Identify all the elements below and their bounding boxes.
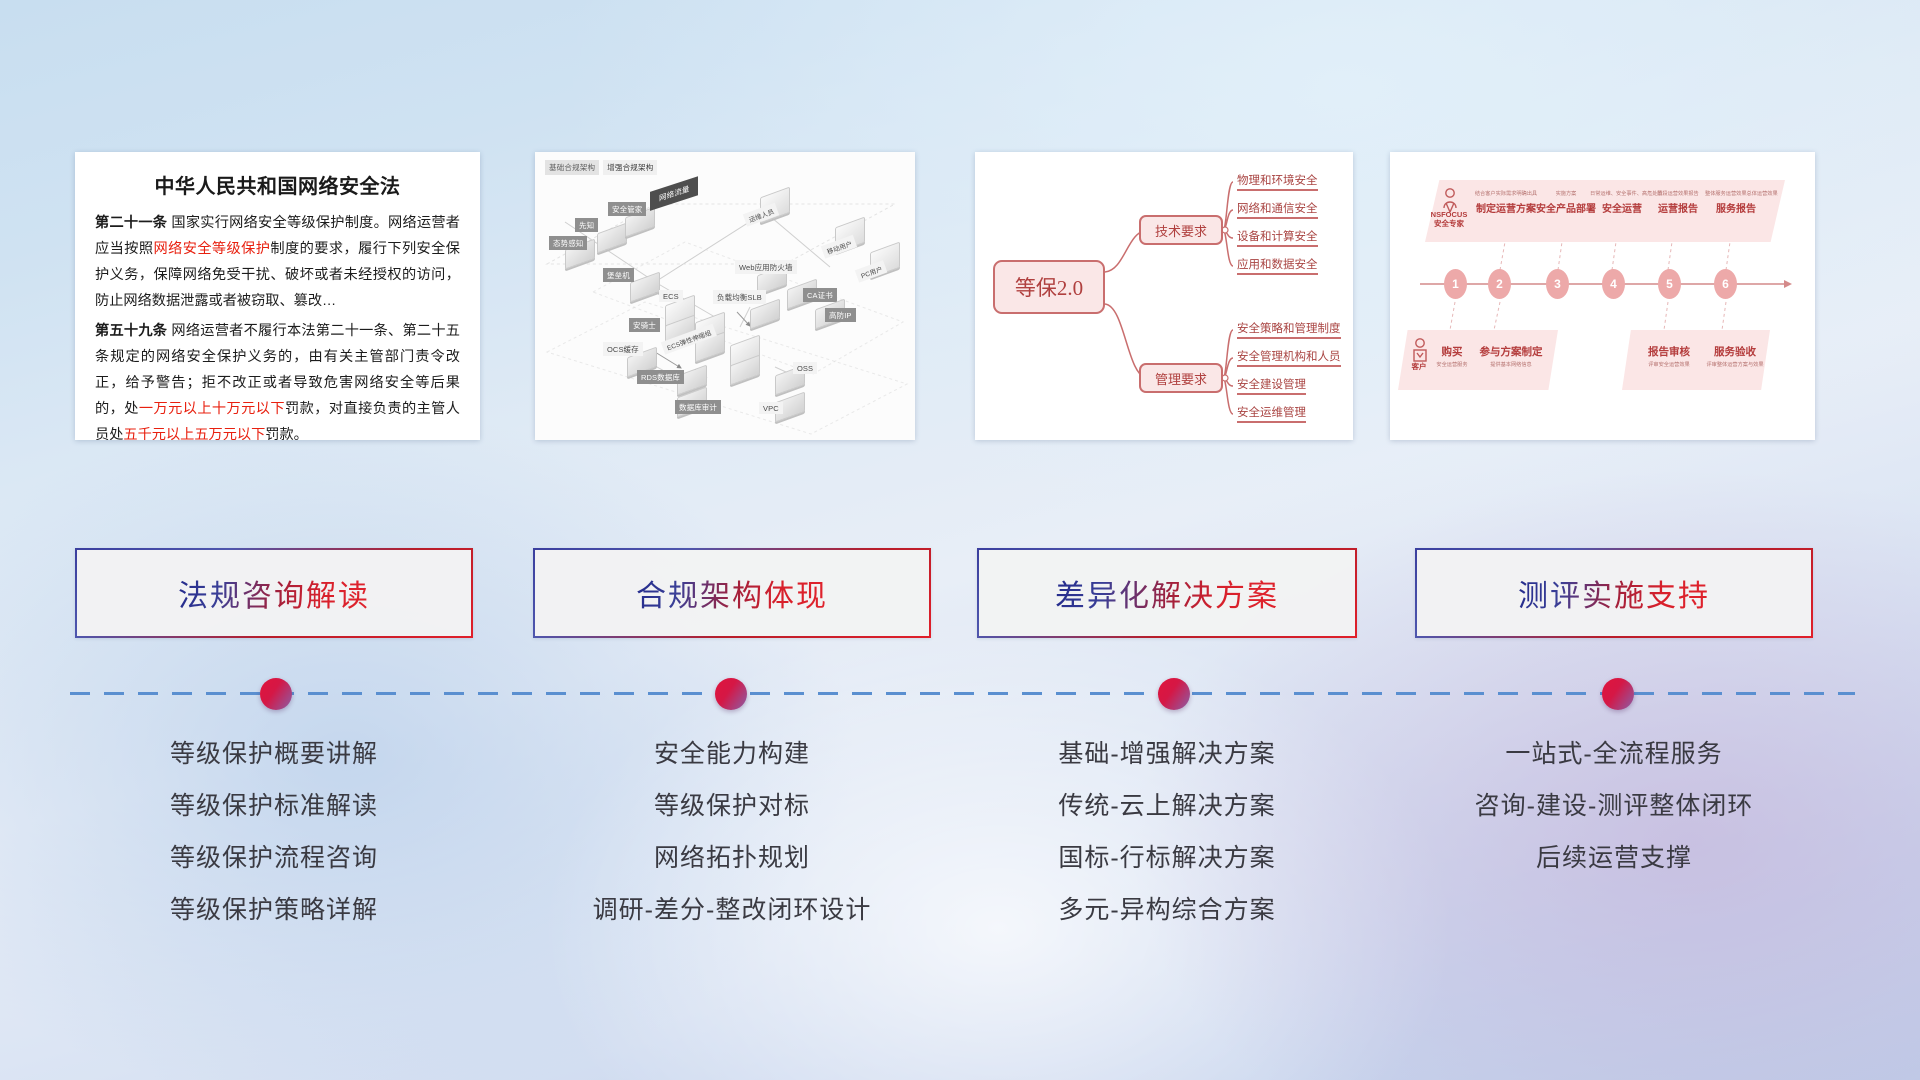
timeline-dot-2[interactable] bbox=[715, 678, 747, 710]
process-number-badge[interactable]: 2 bbox=[1488, 269, 1511, 299]
arch-node-label-antiddos: 高防IP bbox=[825, 308, 856, 322]
arch-node-label-dbaudit: 数据库审计 bbox=[675, 400, 721, 414]
arch-node-label-ocs: OCS缓存 bbox=[603, 342, 643, 356]
process-step-title: 运营报告 bbox=[1648, 200, 1708, 215]
arch-node-label-anqishi: 安骑士 bbox=[629, 318, 660, 332]
section-item[interactable]: 基础-增强解决方案 bbox=[977, 742, 1357, 767]
process-number-badge[interactable]: 1 bbox=[1444, 269, 1467, 299]
timeline-dot-3[interactable] bbox=[1158, 678, 1190, 710]
timeline-dot-1[interactable] bbox=[260, 678, 292, 710]
process-step[interactable]: 阶段运营效果报告 运营报告 bbox=[1648, 191, 1708, 215]
process-step-title: 报告审核 bbox=[1638, 344, 1700, 359]
timeline bbox=[70, 692, 1855, 696]
section-items-4: 一站式-全流程服务 咨询-建设-测评整体闭环 后续运营支撑 bbox=[1415, 742, 1813, 898]
law-paragraph-59: 第五十九条 网络运营者不履行本法第二十一条、第二十五条规定的网络安全保护义务的，… bbox=[95, 319, 460, 440]
law-text-highlight: 网络安全等级保护 bbox=[153, 241, 270, 257]
process-screenshot-card[interactable]: NSFOCUS 安全专家 客户 结合客户实际需求明确出具 制定运营方案 实施方案… bbox=[1390, 152, 1815, 440]
mindmap: 等保2.0 技术要求 物理和环境安全 网络和通信安全 设备和计算安全 应用和数据… bbox=[975, 152, 1353, 440]
process-step-caption: 安全运营服务 bbox=[1430, 361, 1474, 368]
process-step-caption: 提供基本网络信息 bbox=[1472, 361, 1550, 368]
section-title-text: 法规咨询解读 bbox=[178, 571, 370, 615]
arch-node-label-guanjia: 安全管家 bbox=[608, 202, 646, 216]
law-screenshot-card[interactable]: 中华人民共和国网络安全法 第二十一条 国家实行网络安全等级保护制度。网络运营者应… bbox=[75, 152, 480, 440]
section-title-box-3[interactable]: 差异化解决方案 bbox=[977, 548, 1357, 638]
process-step-title: 安全运营 bbox=[1590, 200, 1654, 215]
process-step-caption: 整体服务运营效果总体运营效果 bbox=[1705, 191, 1767, 197]
process-step-title: 服务报告 bbox=[1705, 200, 1767, 215]
section-item[interactable]: 一站式-全流程服务 bbox=[1415, 742, 1813, 767]
process-step[interactable]: 整体服务运营效果总体运营效果 服务报告 bbox=[1705, 191, 1767, 215]
law-paragraph-21: 第二十一条 国家实行网络安全等级保护制度。网络运营者应当按照网络安全等级保护制度… bbox=[95, 211, 460, 314]
process-step-title: 购买 bbox=[1430, 344, 1474, 359]
arch-node bbox=[730, 360, 760, 380]
mindmap-branch-management[interactable]: 管理要求 bbox=[1139, 363, 1223, 393]
process-bottom-step[interactable]: 报告审核 评审安全运营效果 bbox=[1638, 344, 1700, 368]
mindmap-branch-technical[interactable]: 技术要求 bbox=[1139, 215, 1223, 245]
section-item[interactable]: 安全能力构建 bbox=[533, 742, 931, 767]
law-title: 中华人民共和国网络安全法 bbox=[95, 170, 460, 199]
section-item[interactable]: 多元-异构综合方案 bbox=[977, 898, 1357, 923]
process-bottom-step[interactable]: 参与方案制定 提供基本网络信息 bbox=[1472, 344, 1550, 368]
section-item[interactable]: 等级保护流程咨询 bbox=[75, 846, 473, 871]
arch-node-label-situational: 态势感知 bbox=[549, 236, 587, 250]
process-top-actor: NSFOCUS 安全专家 bbox=[1423, 210, 1475, 229]
section-item[interactable]: 国标-行标解决方案 bbox=[977, 846, 1357, 871]
process-bottom-step[interactable]: 购买 安全运营服务 bbox=[1430, 344, 1474, 368]
process-step-title: 参与方案制定 bbox=[1472, 344, 1550, 359]
section-item[interactable]: 咨询-建设-测评整体闭环 bbox=[1415, 794, 1813, 819]
section-item[interactable]: 网络拓扑规划 bbox=[533, 846, 931, 871]
section-title-text: 差异化解决方案 bbox=[1055, 571, 1279, 615]
section-item[interactable]: 等级保护策略详解 bbox=[75, 898, 473, 923]
timeline-dashed-line bbox=[70, 692, 1855, 695]
process-step-caption: 评审安全运营效果 bbox=[1638, 361, 1700, 368]
mindmap-leaf[interactable]: 安全管理机构和人员 bbox=[1237, 348, 1341, 367]
section-title-text: 合规架构体现 bbox=[636, 571, 828, 615]
architecture-diagram: 基础合规架构 增强合规架构 bbox=[535, 152, 915, 440]
section-items-2: 安全能力构建 等级保护对标 网络拓扑规划 调研-差分-整改闭环设计 bbox=[533, 742, 931, 950]
mindmap-leaf[interactable]: 设备和计算安全 bbox=[1237, 228, 1318, 247]
process-number-badge[interactable]: 4 bbox=[1602, 269, 1625, 299]
mindmap-leaf[interactable]: 安全运维管理 bbox=[1237, 404, 1306, 423]
section-item[interactable]: 后续运营支撑 bbox=[1415, 846, 1813, 871]
mindmap-leaf[interactable]: 应用和数据安全 bbox=[1237, 256, 1318, 275]
law-text-highlight: 一万元以上十万元以下 bbox=[139, 401, 285, 417]
section-item[interactable]: 调研-差分-整改闭环设计 bbox=[533, 898, 931, 923]
law-text: 罚款。 bbox=[265, 427, 308, 440]
arch-node bbox=[597, 228, 627, 248]
section-title-text: 测评实施支持 bbox=[1518, 571, 1710, 615]
arch-node-label-rds: RDS数据库 bbox=[637, 370, 684, 384]
process-number-badge[interactable]: 6 bbox=[1714, 269, 1737, 299]
section-title-box-2[interactable]: 合规架构体现 bbox=[533, 548, 931, 638]
process-bottom-step[interactable]: 服务验收 评审整体运营方案与效果 bbox=[1700, 344, 1770, 368]
section-item[interactable]: 等级保护标准解读 bbox=[75, 794, 473, 819]
arch-node-label-ca: CA证书 bbox=[803, 288, 837, 302]
arch-node-label-ecs: ECS bbox=[659, 290, 683, 302]
mindmap-root-node[interactable]: 等保2.0 bbox=[993, 260, 1105, 314]
section-item[interactable]: 等级保护概要讲解 bbox=[75, 742, 473, 767]
process-step-caption: 日常运维、安全事件、高危处置 bbox=[1590, 191, 1654, 197]
arch-node bbox=[630, 277, 660, 297]
arch-node bbox=[750, 304, 780, 324]
process-number-badge[interactable]: 3 bbox=[1546, 269, 1569, 299]
process-step-title: 服务验收 bbox=[1700, 344, 1770, 359]
law-article-label-59: 第五十九条 bbox=[95, 323, 167, 339]
section-title-box-1[interactable]: 法规咨询解读 bbox=[75, 548, 473, 638]
arch-node-label-bastion: 堡垒机 bbox=[603, 268, 634, 282]
architecture-screenshot-card[interactable]: 基础合规架构 增强合规架构 bbox=[535, 152, 915, 440]
timeline-dot-4[interactable] bbox=[1602, 678, 1634, 710]
process-number-badge[interactable]: 5 bbox=[1658, 269, 1681, 299]
screenshot-row: 中华人民共和国网络安全法 第二十一条 国家实行网络安全等级保护制度。网络运营者应… bbox=[0, 152, 1920, 442]
section-items-3: 基础-增强解决方案 传统-云上解决方案 国标-行标解决方案 多元-异构综合方案 bbox=[977, 742, 1357, 950]
mindmap-leaf[interactable]: 安全建设管理 bbox=[1237, 376, 1306, 395]
process-actor-name-line1: NSFOCUS bbox=[1423, 210, 1475, 219]
section-items-1: 等级保护概要讲解 等级保护标准解读 等级保护流程咨询 等级保护策略详解 bbox=[75, 742, 473, 950]
section-item[interactable]: 等级保护对标 bbox=[533, 794, 931, 819]
arch-node-label-vpc: VPC bbox=[759, 402, 783, 414]
process-diagram: NSFOCUS 安全专家 客户 结合客户实际需求明确出具 制定运营方案 实施方案… bbox=[1390, 152, 1815, 440]
mindmap-screenshot-card[interactable]: 等保2.0 技术要求 物理和环境安全 网络和通信安全 设备和计算安全 应用和数据… bbox=[975, 152, 1353, 440]
mindmap-leaf[interactable]: 网络和通信安全 bbox=[1237, 200, 1318, 219]
process-step-caption: 评审整体运营方案与效果 bbox=[1700, 361, 1770, 368]
arch-node-label-waf: Web应用防火墙 bbox=[735, 260, 797, 274]
law-text-highlight: 五千元以上五万元以下 bbox=[123, 427, 265, 440]
process-step[interactable]: 日常运维、安全事件、高危处置 安全运营 bbox=[1590, 191, 1654, 215]
section-title-row: 法规咨询解读 合规架构体现 差异化解决方案 测评实施支持 bbox=[0, 548, 1920, 638]
arch-node-label-slb: 负载均衡SLB bbox=[713, 290, 766, 304]
process-actor-name-line2: 安全专家 bbox=[1423, 219, 1475, 228]
mindmap-leaf[interactable]: 安全策略和管理制度 bbox=[1237, 320, 1341, 339]
mindmap-leaf[interactable]: 物理和环境安全 bbox=[1237, 172, 1318, 191]
section-item[interactable]: 传统-云上解决方案 bbox=[977, 794, 1357, 819]
arch-node-label-xianzhi: 先知 bbox=[575, 218, 598, 232]
law-article-label-21: 第二十一条 bbox=[95, 215, 167, 231]
process-step-caption: 阶段运营效果报告 bbox=[1648, 191, 1708, 197]
section-title-box-4[interactable]: 测评实施支持 bbox=[1415, 548, 1813, 638]
arch-node-label-oss: OSS bbox=[793, 362, 817, 374]
